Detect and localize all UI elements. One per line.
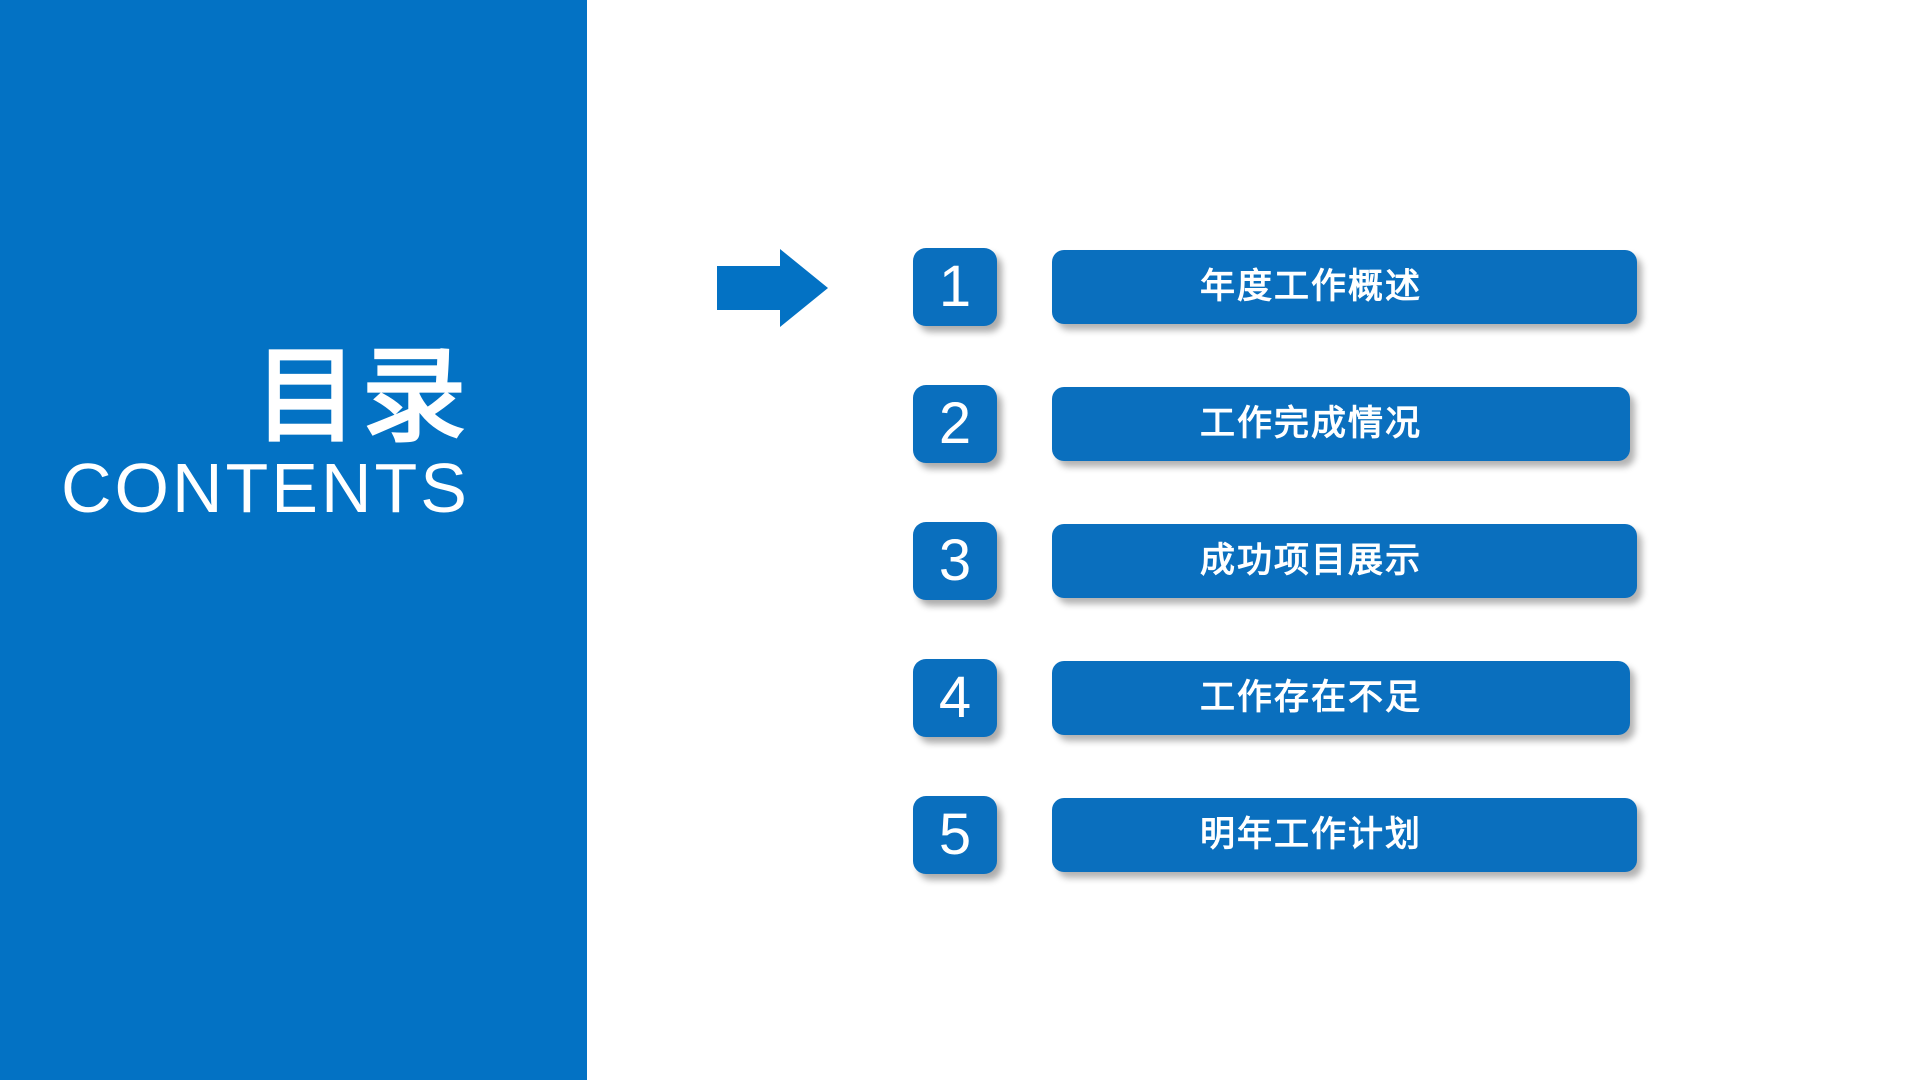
slide-canvas: 目录 CONTENTS 1 年度工作概述 2 工作完成情况 — [0, 0, 1920, 1080]
menu-bar-2[interactable]: 工作完成情况 — [1052, 387, 1630, 461]
menu-bar-1[interactable]: 年度工作概述 — [1052, 250, 1637, 324]
menu-bar-3[interactable]: 成功项目展示 — [1052, 524, 1637, 598]
menu-label-5: 明年工作计划 — [1052, 798, 1570, 872]
menu-bar-4[interactable]: 工作存在不足 — [1052, 661, 1630, 735]
menu-number-badge-2: 2 — [913, 385, 997, 463]
page-title-en: CONTENTS — [0, 452, 470, 526]
menu-label-2: 工作完成情况 — [1052, 387, 1570, 461]
menu-number-badge-3: 3 — [913, 522, 997, 600]
list-item[interactable]: 1 年度工作概述 — [587, 248, 1920, 326]
list-item[interactable]: 3 成功项目展示 — [587, 522, 1920, 600]
contents-menu-list: 1 年度工作概述 2 工作完成情况 3 成功项目展示 4 — [587, 0, 1920, 1080]
page-title-cn: 目录 — [0, 344, 470, 450]
menu-label-4: 工作存在不足 — [1052, 661, 1570, 735]
menu-number-badge-4: 4 — [913, 659, 997, 737]
left-title-panel: 目录 CONTENTS — [0, 0, 587, 1080]
menu-label-3: 成功项目展示 — [1052, 524, 1570, 598]
title-block: 目录 CONTENTS — [0, 344, 470, 526]
menu-bar-5[interactable]: 明年工作计划 — [1052, 798, 1637, 872]
menu-number-badge-5: 5 — [913, 796, 997, 874]
list-item[interactable]: 2 工作完成情况 — [587, 385, 1920, 463]
menu-label-1: 年度工作概述 — [1052, 250, 1570, 324]
content-area: 1 年度工作概述 2 工作完成情况 3 成功项目展示 4 — [587, 0, 1920, 1080]
menu-number-badge-1: 1 — [913, 248, 997, 326]
list-item[interactable]: 5 明年工作计划 — [587, 796, 1920, 874]
list-item[interactable]: 4 工作存在不足 — [587, 659, 1920, 737]
